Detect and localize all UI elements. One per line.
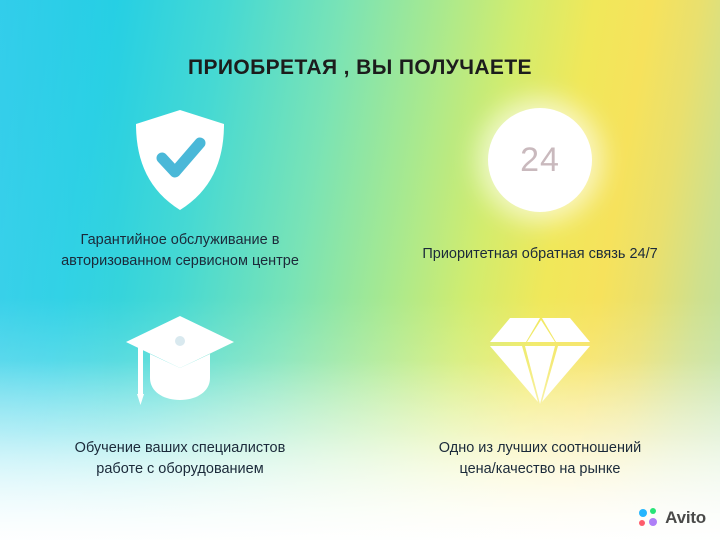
benefit-item-warranty: Гарантийное обслуживание в авторизованно… bbox=[0, 104, 360, 304]
circle-24-label: 24 bbox=[520, 141, 560, 180]
circle-24-icon: 24 bbox=[488, 104, 592, 216]
benefit-caption: Приоритетная обратная связь 24/7 bbox=[422, 244, 657, 265]
benefit-caption-line-2: авторизованном сервисном центре bbox=[61, 251, 299, 272]
benefit-caption-line-2: работе с оборудованием bbox=[75, 459, 286, 480]
benefit-caption-line-1: Гарантийное обслуживание в bbox=[61, 230, 299, 251]
graduation-cap-icon bbox=[124, 304, 236, 416]
benefit-caption-line-1: Приоритетная обратная связь 24/7 bbox=[422, 244, 657, 265]
benefit-caption: Обучение ваших специалистов работе с обо… bbox=[75, 438, 286, 480]
benefit-caption-line-1: Обучение ваших специалистов bbox=[75, 438, 286, 459]
benefit-caption: Одно из лучших соотношений цена/качество… bbox=[439, 438, 641, 480]
diamond-icon bbox=[488, 304, 592, 416]
benefit-item-value: Одно из лучших соотношений цена/качество… bbox=[360, 304, 720, 504]
page-title: ПРИОБРЕТАЯ , ВЫ ПОЛУЧАЕТЕ bbox=[0, 56, 720, 80]
benefit-caption: Гарантийное обслуживание в авторизованно… bbox=[61, 230, 299, 272]
slide-canvas: ПРИОБРЕТАЯ , ВЫ ПОЛУЧАЕТЕ Гарантийное об… bbox=[0, 0, 720, 540]
circle-24-badge: 24 bbox=[488, 108, 592, 212]
avito-logo-icon bbox=[639, 508, 659, 528]
avito-wordmark: Avito bbox=[665, 508, 706, 528]
benefit-caption-line-2: цена/качество на рынке bbox=[439, 459, 641, 480]
avito-watermark: Avito bbox=[639, 508, 706, 528]
benefits-grid: Гарантийное обслуживание в авторизованно… bbox=[0, 104, 720, 504]
benefit-item-training: Обучение ваших специалистов работе с обо… bbox=[0, 304, 360, 504]
shield-check-icon bbox=[132, 104, 228, 216]
benefit-item-support: 24 Приоритетная обратная связь 24/7 bbox=[360, 104, 720, 304]
benefit-caption-line-1: Одно из лучших соотношений bbox=[439, 438, 641, 459]
